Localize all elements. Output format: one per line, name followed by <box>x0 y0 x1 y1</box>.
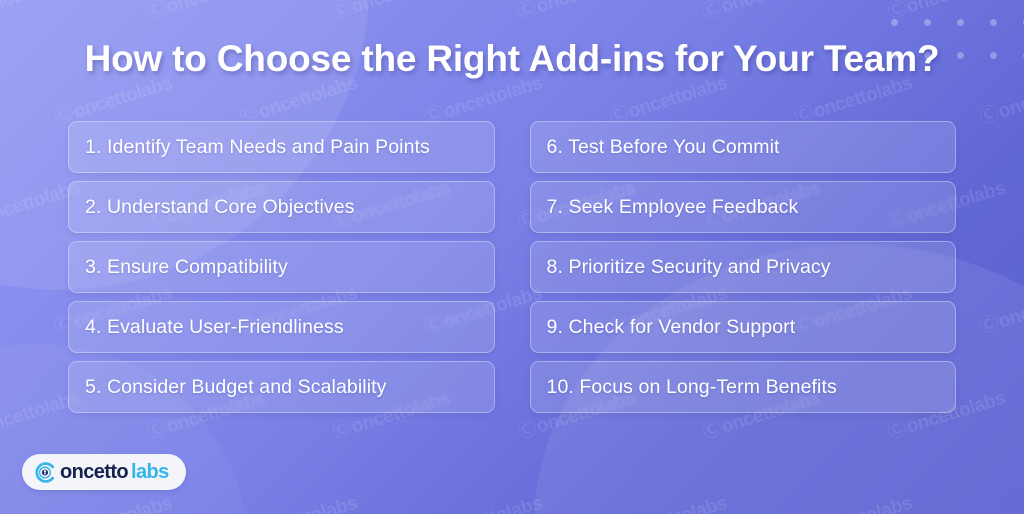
watermark-text: oncettolabs <box>514 0 638 24</box>
list-item-label: 3. Ensure Compatibility <box>85 256 288 279</box>
list-item-label: 7. Seek Employee Feedback <box>547 196 799 219</box>
steps-column-left: 1. Identify Team Needs and Pain Points 2… <box>68 121 495 413</box>
list-item-label: 9. Check for Vendor Support <box>547 316 796 339</box>
list-item[interactable]: 7. Seek Employee Feedback <box>530 181 957 233</box>
watermark-text: oncettolabs <box>884 0 1008 24</box>
list-item-label: 4. Evaluate User-Friendliness <box>85 316 344 339</box>
list-item[interactable]: 1. Identify Team Needs and Pain Points <box>68 121 495 173</box>
watermark-text: oncettolabs <box>699 0 823 24</box>
watermark-text: oncettolabs <box>51 488 175 514</box>
list-item-label: 10. Focus on Long-Term Benefits <box>547 376 837 399</box>
list-item[interactable]: 6. Test Before You Commit <box>530 121 957 173</box>
watermark-text: oncettolabs <box>606 488 730 514</box>
list-item[interactable]: 3. Ensure Compatibility <box>68 241 495 293</box>
steps-columns: 1. Identify Team Needs and Pain Points 2… <box>68 121 956 413</box>
brand-logo[interactable]: oncetto labs <box>22 454 186 490</box>
list-item[interactable]: 2. Understand Core Objectives <box>68 181 495 233</box>
page-title: How to Choose the Right Add-ins for Your… <box>0 38 1024 80</box>
logo-word-accent: labs <box>131 462 169 482</box>
list-item-label: 5. Consider Budget and Scalability <box>85 376 387 399</box>
logo-word-primary: oncetto <box>60 462 128 482</box>
watermark-text: oncettolabs <box>976 278 1024 339</box>
list-item-label: 2. Understand Core Objectives <box>85 196 355 219</box>
list-item-label: 8. Prioritize Security and Privacy <box>547 256 831 279</box>
watermark-text: oncettolabs <box>329 0 453 24</box>
watermark-text: oncettolabs <box>976 488 1024 514</box>
watermark-text: oncettolabs <box>421 488 545 514</box>
list-item[interactable]: 5. Consider Budget and Scalability <box>68 361 495 413</box>
watermark-text: oncettolabs <box>236 488 360 514</box>
infographic-canvas: oncettolabsoncettolabsoncettolabsoncetto… <box>0 0 1024 514</box>
steps-column-right: 6. Test Before You Commit 7. Seek Employ… <box>530 121 957 413</box>
watermark-text: oncettolabs <box>144 0 268 24</box>
concetto-circle-c-icon <box>35 462 56 483</box>
watermark-text: oncettolabs <box>791 488 915 514</box>
list-item-label: 1. Identify Team Needs and Pain Points <box>85 136 430 159</box>
watermark-text: oncettolabs <box>0 0 83 24</box>
list-item[interactable]: 8. Prioritize Security and Privacy <box>530 241 957 293</box>
list-item[interactable]: 10. Focus on Long-Term Benefits <box>530 361 957 413</box>
list-item[interactable]: 9. Check for Vendor Support <box>530 301 957 353</box>
list-item[interactable]: 4. Evaluate User-Friendliness <box>68 301 495 353</box>
list-item-label: 6. Test Before You Commit <box>547 136 780 159</box>
